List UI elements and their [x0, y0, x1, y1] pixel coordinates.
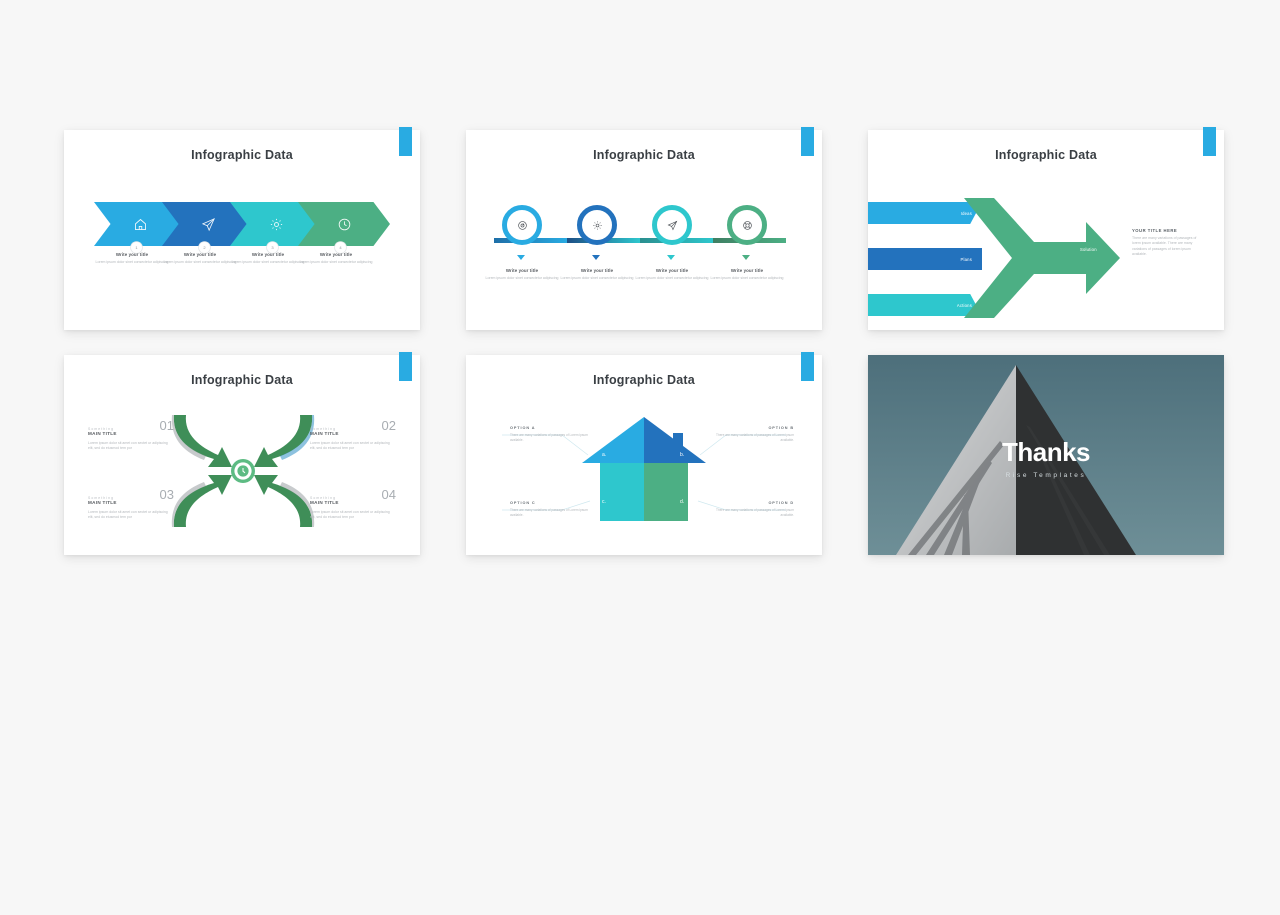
item-body: Lorem ipsum dolor sit amet con sectet ur… — [310, 441, 396, 452]
slide-deck: Infographic Data 1 2 — [64, 130, 1224, 555]
item-number: 02 — [382, 419, 396, 432]
callout-block: YOUR TITLE HERE There are many variation… — [1132, 228, 1198, 258]
callout-heading: YOUR TITLE HERE — [1132, 228, 1198, 233]
option-body: There are many variations of passages of… — [510, 508, 590, 518]
option-body: There are many variations of passages of… — [714, 508, 794, 518]
timeline-caption-3: Write your title Lorem ipsum dolor sinet… — [635, 268, 709, 281]
timeline-caption-1: Write your title Lorem ipsum dolor sinet… — [485, 268, 559, 281]
house-graphic — [578, 415, 710, 521]
caption-body: Lorem ipsum dolor sinet consectetur adip… — [710, 276, 784, 281]
caption-body: Lorem ipsum dolor sinet consectetur adip… — [485, 276, 559, 281]
lifebuoy-icon — [742, 220, 753, 231]
caption-pointer-1 — [517, 255, 525, 260]
item-heading: MAIN TITLE — [88, 431, 117, 436]
caption-pointer-4 — [742, 255, 750, 260]
settings-icon — [592, 220, 603, 231]
option-d[interactable]: OPTION D There are many variations of pa… — [714, 501, 794, 518]
clock-icon — [337, 217, 352, 232]
house-letter-d: d. — [680, 499, 684, 505]
accent-tab — [1203, 127, 1216, 156]
timeline-caption-2: Write your title Lorem ipsum dolor sinet… — [560, 268, 634, 281]
timeline-caption-4: Write your title Lorem ipsum dolor sinet… — [710, 268, 784, 281]
thanks-title: Thanks — [868, 437, 1224, 468]
option-body: There are many variations of passages of… — [714, 433, 794, 443]
caption-title: Write your title — [560, 268, 634, 273]
accent-tab — [399, 352, 412, 381]
slide-house-options[interactable]: Infographic Data a. b. c. d. — [466, 355, 822, 555]
page-title: Infographic Data — [868, 148, 1224, 162]
slide-thanks[interactable]: Thanks Rise Templates — [868, 355, 1224, 555]
item-body: Lorem ipsum dolor sit amet con sectet ur… — [310, 510, 396, 521]
timeline-node-2[interactable] — [577, 205, 617, 245]
caption-body: Lorem ipsum dolor sinet consectetur adip… — [560, 276, 634, 281]
item-number: 04 — [382, 488, 396, 501]
page-title: Infographic Data — [466, 148, 822, 162]
item-number: 03 — [160, 488, 174, 501]
item-number: 01 — [160, 419, 174, 432]
house-letter-b: b. — [680, 452, 684, 458]
item-body: Lorem ipsum dolor sit amet con sectet ur… — [88, 441, 174, 452]
option-body: There are many variations of passages of… — [510, 433, 590, 443]
chevron-caption-1: Write your title Lorem ipsum dolor sinet… — [95, 252, 169, 265]
pinwheel-item-04[interactable]: Something MAIN TITLE 04 Lorem ipsum dolo… — [310, 488, 396, 521]
pinwheel-item-03[interactable]: Something MAIN TITLE 03 Lorem ipsum dolo… — [88, 488, 174, 521]
caption-title: Write your title — [163, 252, 237, 257]
option-heading: OPTION D — [714, 501, 794, 505]
target-icon — [517, 220, 528, 231]
house-letter-c: c. — [602, 499, 606, 505]
pinwheel-arrows-graphic — [168, 407, 318, 535]
option-b[interactable]: OPTION B There are many variations of pa… — [714, 426, 794, 443]
caption-pointer-2 — [592, 255, 600, 260]
slide-pinwheel-arrows[interactable]: Infographic Data — [64, 355, 420, 555]
option-a[interactable]: OPTION A There are many variations of pa… — [510, 426, 590, 443]
caption-body: Lorem ipsum dolor sinet consectetur adip… — [95, 260, 169, 265]
accent-tab — [801, 352, 814, 381]
timeline-node-1[interactable] — [502, 205, 542, 245]
timeline-node-3[interactable] — [652, 205, 692, 245]
item-heading: MAIN TITLE — [310, 431, 339, 436]
caption-body: Lorem ipsum dolor sinet consectetur adip… — [231, 260, 305, 265]
accent-tab — [801, 127, 814, 156]
merge-arrow-shape — [964, 198, 1120, 318]
pinwheel-item-02[interactable]: Something MAIN TITLE 02 Lorem ipsum dolo… — [310, 419, 396, 452]
slide-merge-arrow[interactable]: Infographic Data Ideas Plans Actions Sol… — [868, 130, 1224, 330]
pinwheel-item-01[interactable]: Something MAIN TITLE 01 Lorem ipsum dolo… — [88, 419, 174, 452]
accent-tab — [399, 127, 412, 156]
option-heading: OPTION B — [714, 426, 794, 430]
home-icon — [133, 217, 148, 232]
caption-title: Write your title — [485, 268, 559, 273]
callout-body: There are many variations of passages of… — [1132, 236, 1198, 258]
option-heading: OPTION C — [510, 501, 590, 505]
caption-title: Write your title — [231, 252, 305, 257]
caption-title: Write your title — [635, 268, 709, 273]
page-title: Infographic Data — [64, 373, 420, 387]
chevron-caption-4: Write your title Lorem ipsum dolor sinet… — [299, 252, 373, 265]
paperplane-icon — [667, 220, 678, 231]
option-c[interactable]: OPTION C There are many variations of pa… — [510, 501, 590, 518]
chevron-row: 1 2 3 — [94, 202, 390, 246]
item-body: Lorem ipsum dolor sit amet con sectet ur… — [88, 510, 174, 521]
chevron-caption-3: Write your title Lorem ipsum dolor sinet… — [231, 252, 305, 265]
page-title: Infographic Data — [64, 148, 420, 162]
house-letter-a: a. — [602, 452, 606, 458]
timeline-node-4[interactable] — [727, 205, 767, 245]
caption-title: Write your title — [299, 252, 373, 257]
caption-pointer-3 — [667, 255, 675, 260]
caption-body: Lorem ipsum dolor sinet consectetur adip… — [635, 276, 709, 281]
thanks-subtitle: Rise Templates — [868, 472, 1224, 479]
item-heading: MAIN TITLE — [88, 500, 117, 505]
chevron-caption-2: Write your title Lorem ipsum dolor sinet… — [163, 252, 237, 265]
slide-circle-timeline[interactable]: Infographic Data — [466, 130, 822, 330]
item-heading: MAIN TITLE — [310, 500, 339, 505]
output-label: Solution — [1080, 247, 1097, 252]
send-icon — [201, 217, 216, 232]
caption-title: Write your title — [95, 252, 169, 257]
gear-icon — [269, 217, 284, 232]
slide-chevron-process[interactable]: Infographic Data 1 2 — [64, 130, 420, 330]
caption-body: Lorem ipsum dolor sinet consectetur adip… — [299, 260, 373, 265]
caption-body: Lorem ipsum dolor sinet consectetur adip… — [163, 260, 237, 265]
option-heading: OPTION A — [510, 426, 590, 430]
caption-title: Write your title — [710, 268, 784, 273]
